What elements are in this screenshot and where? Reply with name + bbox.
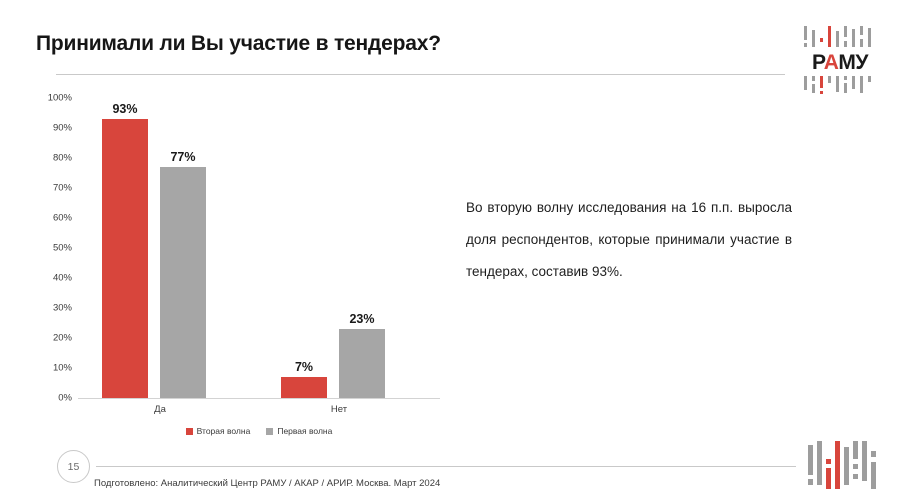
y-axis-tick: 10%: [24, 363, 72, 374]
bar-group-net: 7% 23% Нет: [281, 98, 397, 398]
legend-swatch-icon: [186, 428, 193, 435]
logo-tick: [812, 84, 815, 93]
bar-value-da-second-wave: 93%: [95, 102, 155, 116]
slide-root: Принимали ли Вы участие в тендерах? РАМУ: [0, 0, 900, 498]
logo-tick: [852, 76, 855, 89]
logo-tick: [852, 29, 855, 47]
bar-value-da-first-wave: 77%: [153, 150, 213, 164]
legend-item-first-wave[interactable]: Первая волна: [266, 426, 332, 436]
title-divider: [56, 74, 785, 75]
deco-tick: [844, 447, 849, 485]
chart-legend: Вторая волна Первая волна: [78, 426, 440, 436]
logo-tick: [836, 76, 839, 92]
commentary-text: Во вторую волну исследования на 16 п.п. …: [466, 192, 792, 288]
y-axis-tick: 20%: [24, 333, 72, 344]
page-number-badge: 15: [57, 450, 90, 483]
x-axis-category-net: Нет: [279, 404, 399, 415]
y-axis-tick: 30%: [24, 303, 72, 314]
logo-tick: [836, 31, 839, 47]
bar-da-second-wave[interactable]: [102, 119, 148, 398]
ramu-logo: РАМУ: [802, 26, 878, 94]
logo-tick: [812, 30, 815, 47]
logo-tick-accent: [820, 38, 823, 42]
legend-item-second-wave[interactable]: Вторая волна: [186, 426, 251, 436]
bar-net-first-wave[interactable]: [339, 329, 385, 398]
bar-da-first-wave[interactable]: [160, 167, 206, 398]
deco-tick: [853, 441, 858, 459]
y-axis-tick: 80%: [24, 153, 72, 164]
bar-group-da: 93% 77% Да: [102, 98, 218, 398]
deco-tick: [853, 464, 858, 469]
logo-tick: [860, 76, 863, 93]
bar-value-net-second-wave: 7%: [274, 360, 334, 374]
deco-tick-accent: [826, 459, 831, 464]
logo-letter-r: Р: [812, 51, 824, 74]
y-axis: 100% 90% 80% 70% 60% 50% 40% 30% 20% 10%…: [24, 98, 72, 398]
deco-tick: [808, 445, 813, 475]
logo-tick: [804, 76, 807, 90]
legend-label-second-wave: Вторая волна: [197, 426, 251, 436]
logo-tick: [868, 76, 871, 82]
deco-tick: [817, 441, 822, 485]
x-axis-line: [78, 398, 440, 399]
y-axis-tick: 100%: [24, 93, 72, 104]
deco-tick: [853, 474, 858, 479]
x-axis-category-da: Да: [100, 404, 220, 415]
y-axis-tick: 60%: [24, 213, 72, 224]
logo-tick: [804, 43, 807, 47]
logo-tick: [860, 26, 863, 35]
y-axis-tick: 50%: [24, 243, 72, 254]
footer-barcode-decoration: [806, 441, 880, 493]
deco-tick: [871, 451, 876, 457]
footer-source-note: Подготовлено: Аналитический Центр РАМУ /…: [94, 478, 440, 489]
footer-divider: [96, 466, 796, 467]
bar-value-net-first-wave: 23%: [332, 312, 392, 326]
logo-tick: [844, 26, 847, 37]
bar-net-second-wave[interactable]: [281, 377, 327, 398]
deco-tick-accent: [826, 468, 831, 489]
logo-letters-mu: МУ: [838, 51, 868, 74]
logo-tick: [868, 28, 871, 47]
logo-tick: [860, 39, 863, 47]
page-title: Принимали ли Вы участие в тендерах?: [36, 32, 736, 56]
logo-letter-a-accent: А: [824, 51, 839, 74]
legend-label-first-wave: Первая волна: [277, 426, 332, 436]
y-axis-tick: 40%: [24, 273, 72, 284]
logo-tick: [844, 41, 847, 47]
plot-area: 93% 77% Да 7% 23% Нет: [78, 98, 436, 398]
logo-tick-accent: [828, 26, 831, 47]
legend-swatch-icon: [266, 428, 273, 435]
y-axis-tick: 70%: [24, 183, 72, 194]
logo-tick: [844, 83, 847, 93]
y-axis-tick: 90%: [24, 123, 72, 134]
deco-tick: [862, 441, 867, 481]
deco-tick: [808, 479, 813, 485]
logo-tick-accent: [820, 76, 823, 88]
y-axis-tick: 0%: [24, 393, 72, 404]
deco-tick-accent: [835, 441, 840, 489]
logo-wordmark: РАМУ: [802, 52, 878, 73]
logo-tick: [812, 76, 815, 81]
logo-tick: [804, 26, 807, 40]
deco-tick: [871, 462, 876, 489]
logo-tick: [828, 76, 831, 83]
bar-chart: 100% 90% 80% 70% 60% 50% 40% 30% 20% 10%…: [24, 98, 444, 443]
logo-tick: [844, 76, 847, 80]
logo-tick-accent: [820, 91, 823, 94]
